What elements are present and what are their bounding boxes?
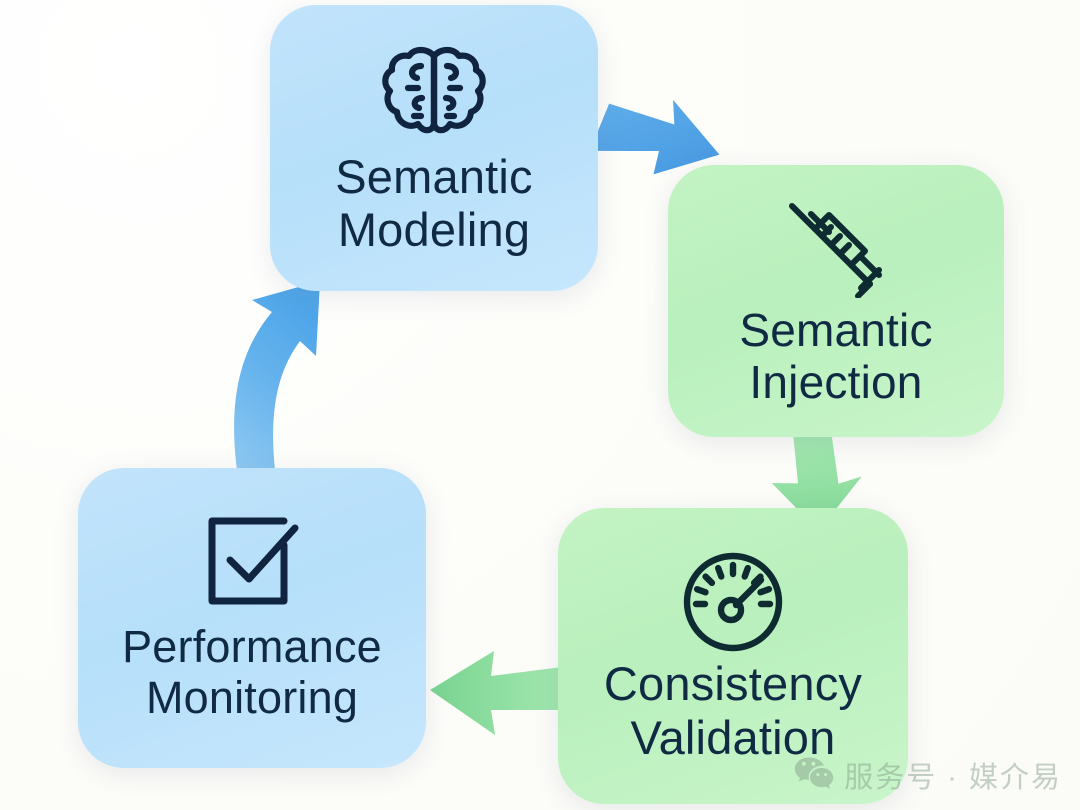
- watermark: 服务号 · 媒介易: [794, 754, 1062, 796]
- gauge-icon: [678, 547, 788, 653]
- brain-icon: [378, 40, 490, 144]
- wechat-icon: [794, 756, 834, 795]
- checkbox-check-icon: [200, 513, 304, 613]
- node-label-semantic-modeling: Semantic Modeling: [335, 150, 533, 256]
- diagram-canvas: Semantic Modeling: [0, 0, 1080, 810]
- node-label-consistency-validation: Consistency Validation: [604, 657, 862, 764]
- watermark-text: 服务号 · 媒介易: [844, 754, 1062, 796]
- node-semantic-injection[interactable]: Semantic Injection: [668, 165, 1004, 437]
- arrow-validation-to-monitoring: [430, 651, 562, 735]
- arrow-monitoring-to-modeling: [234, 281, 320, 470]
- node-performance-monitoring[interactable]: Performance Monitoring: [78, 468, 426, 768]
- syringe-icon: [782, 194, 890, 298]
- node-label-performance-monitoring: Performance Monitoring: [122, 621, 382, 724]
- node-label-semantic-injection: Semantic Injection: [739, 304, 932, 409]
- node-semantic-modeling[interactable]: Semantic Modeling: [270, 5, 598, 291]
